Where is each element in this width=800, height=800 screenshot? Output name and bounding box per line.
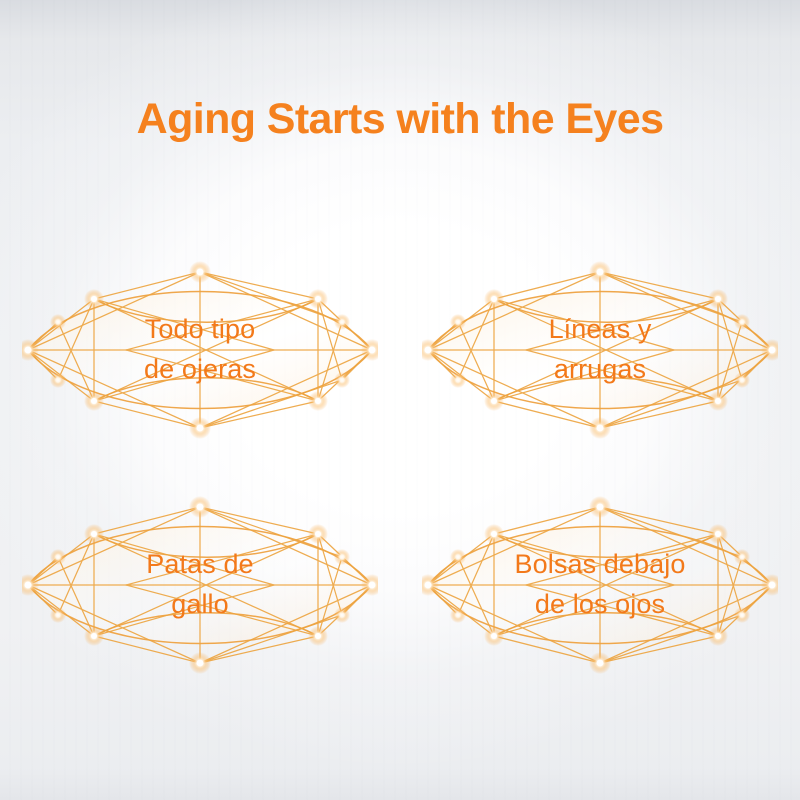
eye-network-icon — [422, 252, 778, 448]
eye-network-icon — [22, 487, 378, 683]
eye-card-lineas-y-arrugas[interactable]: Líneas y arrugas — [400, 232, 800, 467]
eye-card-todo-tipo-de-ojeras[interactable]: Todo tipo de ojeras — [0, 232, 400, 467]
eye-card-patas-de-gallo[interactable]: Patas de gallo — [0, 467, 400, 702]
poster-canvas: Aging Starts with the Eyes — [0, 0, 800, 800]
eye-card-grid: Todo tipo de ojeras — [0, 232, 800, 702]
eye-card-bolsas-debajo-de-los-ojos[interactable]: Bolsas debajo de los ojos — [400, 467, 800, 702]
eye-network-icon — [422, 487, 778, 683]
page-title: Aging Starts with the Eyes — [0, 97, 800, 142]
eye-network-icon — [22, 252, 378, 448]
